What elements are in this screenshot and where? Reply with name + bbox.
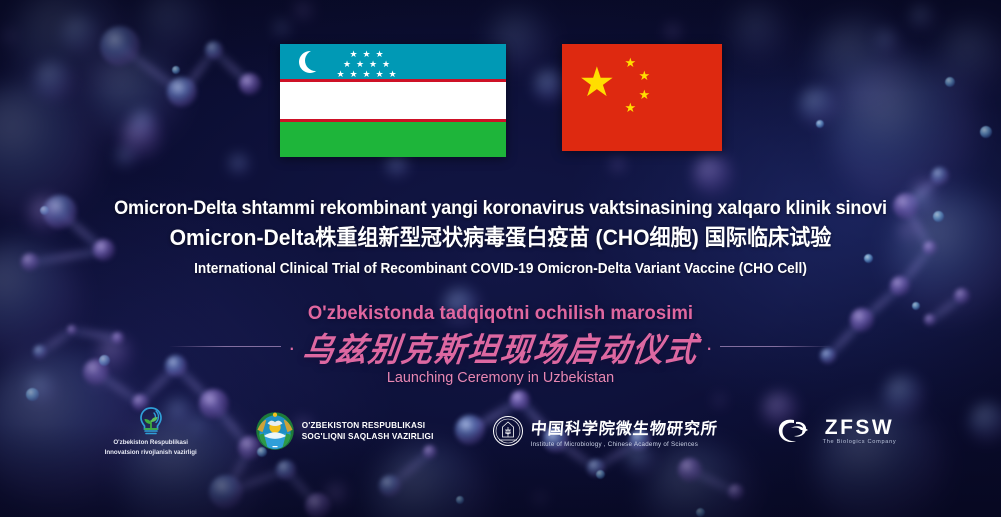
uz-flag-star-icon: ★ — [369, 60, 377, 69]
ceremony-block: O'zbekistonda tadqiqotni ochilish marosi… — [0, 303, 1001, 386]
china-flag: ★ ★ ★ ★ ★ — [562, 44, 722, 151]
uz-flag-star-icon: ★ — [389, 70, 397, 79]
innovation-ministry-logo: O'zbekiston Respublikasi Innovatsion riv… — [105, 405, 197, 458]
uz-flag-star-icon: ★ — [363, 50, 371, 59]
flags-row: ★★★★★★★★★★★★ ★ ★ ★ ★ ★ — [0, 44, 1001, 157]
zfsw-logo: ZFSW The Biologics Company — [776, 415, 897, 447]
health-ministry-line2: SOG'LIQNI SAQLASH VAZIRLIGI — [302, 431, 434, 442]
title-block: Omicron-Delta shtammi rekombinant yangi … — [0, 196, 1001, 279]
ceremony-rule-left — [169, 346, 281, 347]
lightbulb-sprout-icon — [134, 405, 168, 437]
ceremony-rule-right — [720, 346, 832, 347]
uz-flag-white-band — [280, 82, 506, 119]
innovation-ministry-caption-line1: O'zbekiston Respublikasi — [113, 439, 188, 447]
uz-flag-star-icon: ★ — [337, 70, 345, 79]
uzbekistan-state-emblem-icon — [255, 411, 295, 451]
cas-seal-icon — [492, 415, 524, 447]
ceremony-english: Launching Ceremony in Uzbekistan — [20, 369, 981, 386]
uz-flag-star-icon: ★ — [350, 50, 358, 59]
health-ministry-line1: O'ZBEKISTON RESPUBLIKASI — [302, 420, 434, 431]
uz-flag-star-icon: ★ — [376, 70, 384, 79]
cn-small-star-icon-2: ★ — [639, 69, 651, 82]
zfsw-swirl-icon — [776, 415, 816, 447]
poster-content: ★★★★★★★★★★★★ ★ ★ ★ ★ ★ Omicron-Delta sht… — [0, 0, 1001, 517]
title-english: International Clinical Trial of Recombin… — [30, 260, 971, 279]
title-uzbek: Omicron-Delta shtammi rekombinant yangi … — [35, 196, 966, 220]
zfsw-tagline: The Biologics Company — [823, 439, 897, 445]
title-chinese: Omicron-Delta株重组新型冠状病毒蛋白疫苗 (CHO细胞) 国际临床试… — [20, 224, 981, 253]
cas-microbiology-logo: 中国科学院微生物研究所 Institute of Microbiology , … — [492, 415, 718, 448]
cn-small-star-icon-4: ★ — [625, 101, 637, 114]
zfsw-brand-name: ZFSW — [825, 417, 894, 438]
cn-small-star-icon-1: ★ — [625, 56, 637, 69]
cn-small-star-icon-3: ★ — [639, 88, 651, 101]
ceremony-chinese: 乌兹别克斯坦现场启动仪式 — [300, 322, 702, 370]
uz-flag-star-icon: ★ — [382, 60, 390, 69]
logos-row: O'zbekiston Respublikasi Innovatsion riv… — [0, 402, 1001, 460]
uz-flag-star-icon: ★ — [350, 70, 358, 79]
cas-chinese-name: 中国科学院微生物研究所 — [530, 415, 719, 439]
uzbekistan-flag: ★★★★★★★★★★★★ — [280, 44, 506, 157]
uz-flag-star-icon: ★ — [343, 60, 351, 69]
cn-big-star-icon: ★ — [579, 62, 616, 103]
uz-flag-green-band — [280, 122, 506, 157]
crescent-moon-icon — [299, 51, 321, 73]
uz-flag-star-icon: ★ — [356, 60, 364, 69]
uz-flag-star-icon: ★ — [376, 50, 384, 59]
innovation-ministry-caption-line2: Innovatsion rivojlanish vazirligi — [105, 449, 197, 457]
poster-canvas: ★★★★★★★★★★★★ ★ ★ ★ ★ ★ Omicron-Delta sht… — [0, 0, 1001, 517]
cas-english-name: Institute of Microbiology , Chinese Acad… — [531, 441, 718, 448]
health-ministry-logo: O'ZBEKISTON RESPUBLIKASI SOG'LIQNI SAQLA… — [255, 411, 434, 451]
ceremony-chinese-row: · 乌兹别克斯坦现场启动仪式 · — [0, 328, 1001, 364]
uz-flag-star-icon: ★ — [363, 70, 371, 79]
